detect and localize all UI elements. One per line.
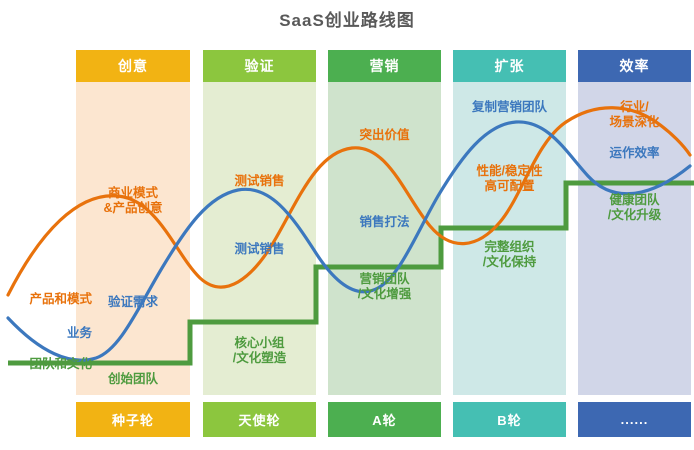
product-label-4: 性能/稳定性 高可配置: [453, 164, 566, 195]
product-label-5: 行业/ 场景深化: [578, 100, 691, 131]
business-label-5: 运作效率: [578, 146, 691, 161]
column-header-4[interactable]: 扩张: [453, 50, 566, 82]
roadmap-diagram: SaaS创业路线图 创意种子轮验证天使轮营销A轮扩张B轮效率...... 商业模…: [0, 0, 694, 450]
team-label-3: 营销团队 /文化增强: [328, 272, 441, 303]
column-footer-2[interactable]: 天使轮: [203, 402, 316, 437]
page-title: SaaS创业路线图: [0, 6, 694, 31]
product-label-1: 商业模式 &产品创意: [76, 186, 190, 217]
column-header-5[interactable]: 效率: [578, 50, 691, 82]
business-label-1: 验证需求: [76, 295, 190, 310]
column-body-1: [76, 82, 190, 395]
column-body-4: [453, 82, 566, 395]
team-label-4: 完整组织 /文化保持: [453, 240, 566, 271]
business-label-2: 测试销售: [203, 242, 316, 257]
team-label-5: 健康团队 /文化升级: [578, 193, 691, 224]
column-header-1[interactable]: 创意: [76, 50, 190, 82]
column-header-3[interactable]: 营销: [328, 50, 441, 82]
column-footer-5[interactable]: ......: [578, 402, 691, 437]
column-footer-1[interactable]: 种子轮: [76, 402, 190, 437]
axis-label-product: 产品和模式: [0, 288, 92, 307]
column-footer-3[interactable]: A轮: [328, 402, 441, 437]
business-label-3: 销售打法: [328, 215, 441, 230]
column-footer-4[interactable]: B轮: [453, 402, 566, 437]
team-label-1: 创始团队: [76, 372, 190, 387]
axis-label-business: 业务: [0, 322, 92, 341]
team-label-2: 核心小组 /文化塑造: [203, 336, 316, 367]
product-label-3: 突出价值: [328, 128, 441, 143]
product-label-2: 测试销售: [203, 174, 316, 189]
column-header-2[interactable]: 验证: [203, 50, 316, 82]
axis-label-team: 团队和文化: [0, 353, 92, 372]
business-label-4: 复制营销团队: [453, 100, 566, 115]
